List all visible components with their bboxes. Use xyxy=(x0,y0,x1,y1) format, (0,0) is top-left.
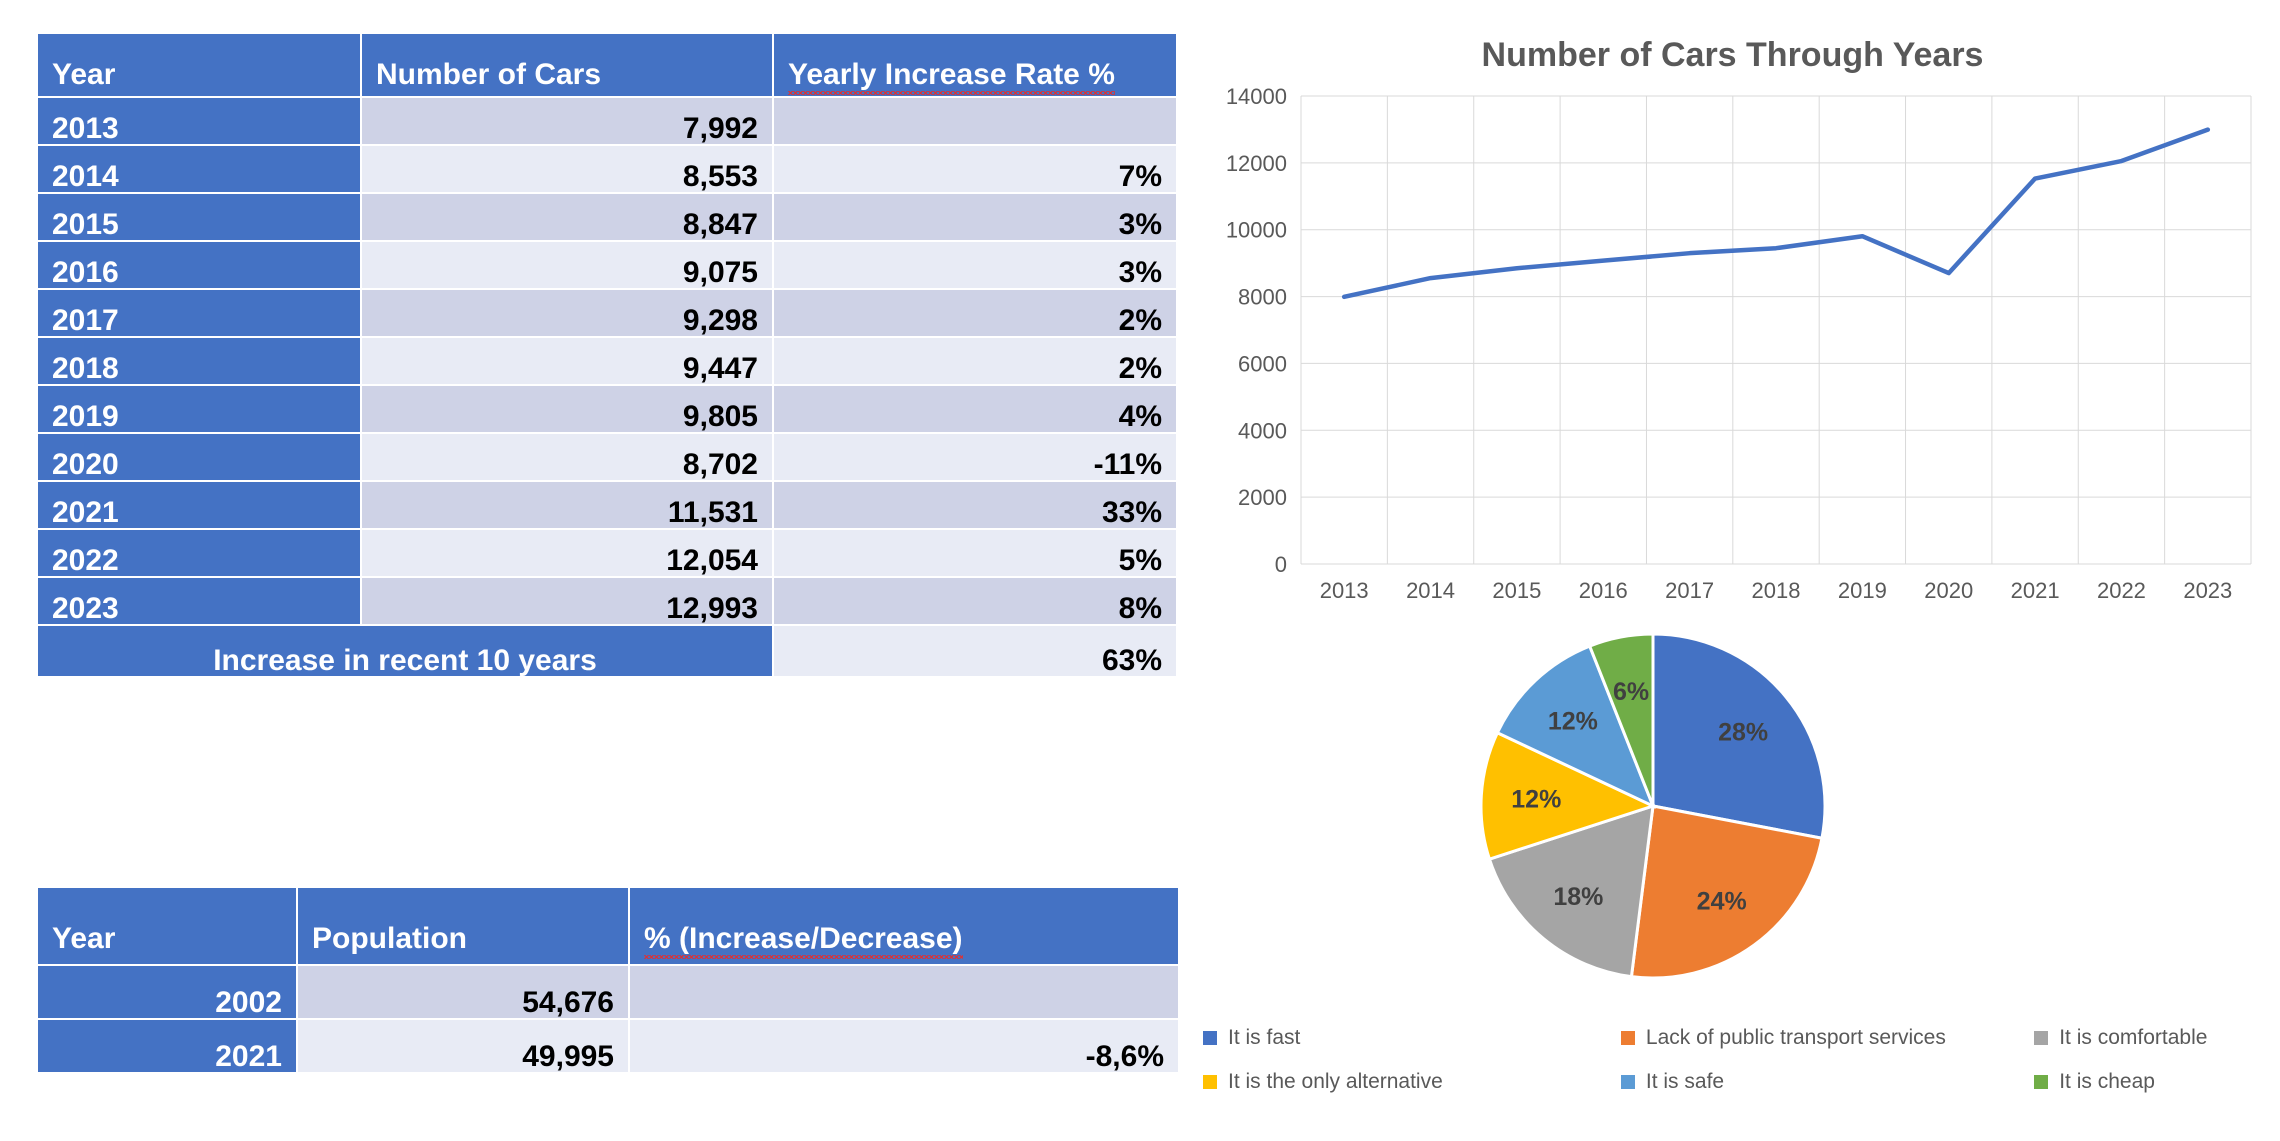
column-header-percent-increase-decrease: % (Increase/Decrease) xyxy=(630,888,1178,964)
legend-row: It is the only alternative It is safe It… xyxy=(1203,1060,2273,1104)
cell-number-of-cars: 8,702 xyxy=(362,434,772,480)
svg-text:2014: 2014 xyxy=(1406,578,1455,603)
table-total-row: Increase in recent 10 years 63% xyxy=(38,626,1176,676)
misspelled-text: % (Increase/Decrease) xyxy=(644,923,963,955)
cell-year: 2002 xyxy=(38,966,296,1018)
tables-pane: Year Number of Cars Yearly Increase Rate… xyxy=(0,0,1185,1141)
legend-label: It is fast xyxy=(1228,1026,1300,1050)
svg-text:18%: 18% xyxy=(1553,883,1603,911)
cell-year: 2023 xyxy=(38,578,360,624)
svg-text:2000: 2000 xyxy=(1238,485,1287,510)
cell-increase-rate: 8% xyxy=(774,578,1176,624)
total-value: 63% xyxy=(774,626,1176,676)
pie-chart-legend: It is fast Lack of public transport serv… xyxy=(1203,1016,2273,1104)
svg-text:2016: 2016 xyxy=(1579,578,1628,603)
svg-text:14000: 14000 xyxy=(1226,86,1287,109)
table-row: 2017 9,298 2% xyxy=(38,290,1176,336)
cell-number-of-cars: 12,054 xyxy=(362,530,772,576)
cell-year: 2015 xyxy=(38,194,360,240)
cell-increase-rate: 3% xyxy=(774,194,1176,240)
cell-change xyxy=(630,966,1178,1018)
svg-text:2021: 2021 xyxy=(2011,578,2060,603)
legend-swatch-icon xyxy=(1203,1031,1217,1045)
table-header-row: Year Population % (Increase/Decrease) xyxy=(38,888,1178,964)
cell-increase-rate: 2% xyxy=(774,290,1176,336)
cell-number-of-cars: 9,075 xyxy=(362,242,772,288)
column-header-year: Year xyxy=(38,888,296,964)
table-row: 2021 11,531 33% xyxy=(38,482,1176,528)
svg-text:2015: 2015 xyxy=(1492,578,1541,603)
svg-text:2013: 2013 xyxy=(1320,578,1369,603)
svg-text:6000: 6000 xyxy=(1238,351,1287,376)
svg-text:2018: 2018 xyxy=(1752,578,1801,603)
svg-text:28%: 28% xyxy=(1718,718,1768,746)
svg-text:2019: 2019 xyxy=(1838,578,1887,603)
cell-year: 2022 xyxy=(38,530,360,576)
cell-increase-rate: 3% xyxy=(774,242,1176,288)
table-header-row: Year Number of Cars Yearly Increase Rate… xyxy=(38,34,1176,96)
legend-item-lack-of-public-transport-services[interactable]: Lack of public transport services xyxy=(1621,1026,2034,1050)
legend-label: Lack of public transport services xyxy=(1646,1026,1946,1050)
legend-swatch-icon xyxy=(1621,1031,1635,1045)
table-row: 2022 12,054 5% xyxy=(38,530,1176,576)
svg-text:12000: 12000 xyxy=(1226,151,1287,176)
misspelled-text: Yearly Increase Rate % xyxy=(788,59,1115,91)
pie-chart-svg: 28%24%18%12%12%6% xyxy=(1455,616,1855,1001)
line-chart-svg: 0200040006000800010000120001400020132014… xyxy=(1205,86,2265,626)
legend-label: It is the only alternative xyxy=(1228,1070,1443,1094)
cell-increase-rate xyxy=(774,98,1176,144)
column-header-yearly-increase-rate: Yearly Increase Rate % xyxy=(774,34,1176,96)
column-header-population: Population xyxy=(298,888,628,964)
svg-text:2020: 2020 xyxy=(1924,578,1973,603)
svg-text:4000: 4000 xyxy=(1238,418,1287,443)
svg-text:10000: 10000 xyxy=(1226,218,1287,243)
table-row: 2020 8,702 -11% xyxy=(38,434,1176,480)
cell-year: 2019 xyxy=(38,386,360,432)
svg-text:6%: 6% xyxy=(1613,678,1649,706)
cell-number-of-cars: 9,447 xyxy=(362,338,772,384)
total-label: Increase in recent 10 years xyxy=(38,626,772,676)
svg-text:0: 0 xyxy=(1275,552,1287,577)
cell-number-of-cars: 12,993 xyxy=(362,578,772,624)
table-row: 2023 12,993 8% xyxy=(38,578,1176,624)
cell-number-of-cars: 7,992 xyxy=(362,98,772,144)
legend-item-it-is-cheap[interactable]: It is cheap xyxy=(2034,1070,2273,1094)
legend-swatch-icon xyxy=(2034,1075,2048,1089)
cell-year: 2014 xyxy=(38,146,360,192)
cell-number-of-cars: 8,847 xyxy=(362,194,772,240)
cell-increase-rate: 33% xyxy=(774,482,1176,528)
pie-chart: 28%24%18%12%12%6% xyxy=(1455,616,1855,1001)
table-row: 2014 8,553 7% xyxy=(38,146,1176,192)
cell-increase-rate: 7% xyxy=(774,146,1176,192)
table-row: 2021 49,995 -8,6% xyxy=(38,1020,1178,1072)
svg-text:12%: 12% xyxy=(1511,786,1561,814)
cell-change: -8,6% xyxy=(630,1020,1178,1072)
cell-increase-rate: -11% xyxy=(774,434,1176,480)
cell-number-of-cars: 8,553 xyxy=(362,146,772,192)
legend-item-it-is-fast[interactable]: It is fast xyxy=(1203,1026,1621,1050)
column-header-year: Year xyxy=(38,34,360,96)
legend-label: It is safe xyxy=(1646,1070,1724,1094)
cell-increase-rate: 4% xyxy=(774,386,1176,432)
legend-label: It is cheap xyxy=(2059,1070,2155,1094)
svg-text:2023: 2023 xyxy=(2183,578,2232,603)
line-chart: 0200040006000800010000120001400020132014… xyxy=(1205,86,2265,626)
legend-item-it-is-safe[interactable]: It is safe xyxy=(1621,1070,2034,1094)
table-row: 2013 7,992 xyxy=(38,98,1176,144)
line-chart-title: Number of Cars Through Years xyxy=(1185,36,2280,75)
table-row: 2018 9,447 2% xyxy=(38,338,1176,384)
table-row: 2019 9,805 4% xyxy=(38,386,1176,432)
cell-year: 2013 xyxy=(38,98,360,144)
cell-number-of-cars: 11,531 xyxy=(362,482,772,528)
table-row: 2002 54,676 xyxy=(38,966,1178,1018)
legend-swatch-icon xyxy=(1203,1075,1217,1089)
svg-text:2017: 2017 xyxy=(1665,578,1714,603)
cell-year: 2018 xyxy=(38,338,360,384)
cell-increase-rate: 5% xyxy=(774,530,1176,576)
cell-year: 2020 xyxy=(38,434,360,480)
svg-text:12%: 12% xyxy=(1548,708,1598,736)
legend-row: It is fast Lack of public transport serv… xyxy=(1203,1016,2273,1060)
charts-pane: Number of Cars Through Years 02000400060… xyxy=(1185,0,2280,1141)
legend-swatch-icon xyxy=(2034,1031,2048,1045)
cell-increase-rate: 2% xyxy=(774,338,1176,384)
cell-number-of-cars: 9,805 xyxy=(362,386,772,432)
table-row: 2016 9,075 3% xyxy=(38,242,1176,288)
cell-year: 2017 xyxy=(38,290,360,336)
svg-text:8000: 8000 xyxy=(1238,285,1287,310)
cell-year: 2016 xyxy=(38,242,360,288)
cell-population: 54,676 xyxy=(298,966,628,1018)
cars-table: Year Number of Cars Yearly Increase Rate… xyxy=(36,32,1178,678)
cell-year: 2021 xyxy=(38,482,360,528)
legend-label: It is comfortable xyxy=(2059,1026,2207,1050)
population-table: Year Population % (Increase/Decrease) 20… xyxy=(36,886,1180,1074)
legend-swatch-icon xyxy=(1621,1075,1635,1089)
svg-text:24%: 24% xyxy=(1697,888,1747,916)
column-header-number-of-cars: Number of Cars xyxy=(362,34,772,96)
cell-year: 2021 xyxy=(38,1020,296,1072)
svg-text:2022: 2022 xyxy=(2097,578,2146,603)
legend-item-it-is-the-only-alternative[interactable]: It is the only alternative xyxy=(1203,1070,1621,1094)
cell-population: 49,995 xyxy=(298,1020,628,1072)
legend-item-it-is-comfortable[interactable]: It is comfortable xyxy=(2034,1026,2273,1050)
cell-number-of-cars: 9,298 xyxy=(362,290,772,336)
table-row: 2015 8,847 3% xyxy=(38,194,1176,240)
